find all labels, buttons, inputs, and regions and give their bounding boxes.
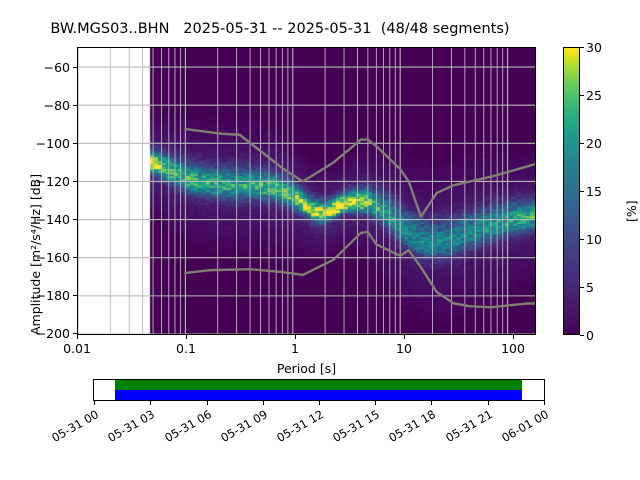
ppsd-figure: BW.MGS03..BHN 2025-05-31 -- 2025-05-31 (… — [0, 0, 640, 480]
timeline-tick-label-4: 05-31 12 — [215, 407, 326, 479]
timeline-tick-label-3: 05-31 09 — [159, 407, 270, 479]
timeline-tick-label-5: 05-31 15 — [271, 407, 382, 479]
timeline-label-group: 05-31 0005-31 0305-31 0605-31 0905-31 12… — [0, 0, 640, 480]
timeline-tick-label-2: 05-31 06 — [103, 407, 214, 479]
timeline-tick-label-6: 05-31 18 — [327, 407, 438, 479]
timeline-tick-label-1: 05-31 03 — [46, 407, 157, 479]
timeline-tick-label-8: 06-01 00 — [440, 407, 551, 479]
timeline-tick-label-7: 05-31 21 — [384, 407, 495, 479]
